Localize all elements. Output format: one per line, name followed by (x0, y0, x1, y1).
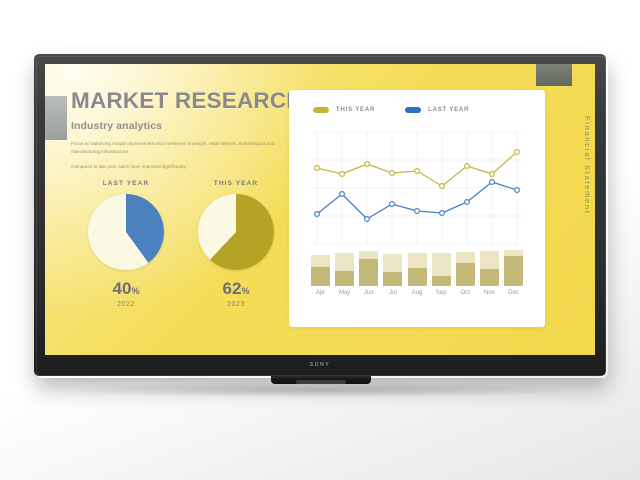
pie-percent-unit-last-year: % (131, 286, 139, 296)
bar-column[interactable] (335, 253, 354, 286)
pie-percent-value-last-year: 40 (113, 279, 132, 298)
bar-axis-label: Apr (311, 290, 330, 296)
decorative-tab-right (536, 64, 572, 86)
bar-segment-filled (504, 256, 523, 286)
sony-logo: SONY (0, 362, 640, 368)
bar-axis-label: Sep (432, 290, 451, 296)
line-chart (311, 132, 523, 244)
legend-label: LAST YEAR (428, 107, 469, 113)
bar-axis-label: Nov (480, 290, 499, 296)
chart-legend: THIS YEARLAST YEAR (313, 107, 469, 113)
pie-card-this-year: THIS YEAR 62% 2023 (183, 180, 289, 308)
screenshot-stage: SONY Financial Statement MARKET RESEARCH… (0, 0, 640, 480)
side-rail: Financial Statement (572, 64, 595, 355)
pie-year-last-year: 2022 (73, 301, 179, 308)
bar-chart-axis-labels: AprMayJunJulAugSepOctNovDec (311, 290, 523, 296)
page-subtitle: Industry analytics (71, 120, 309, 132)
bar-column[interactable] (456, 252, 475, 286)
legend-item-this-year[interactable]: THIS YEAR (313, 107, 375, 113)
bar-column[interactable] (359, 251, 378, 286)
bar-segment-filled (383, 272, 402, 286)
tv-screen[interactable]: Financial Statement MARKET RESEARCH Indu… (45, 64, 595, 355)
pie-year-this-year: 2023 (183, 301, 289, 308)
bar-axis-label: Oct (456, 290, 475, 296)
bar-segment-filled (432, 276, 451, 286)
pie-percent-last-year: 40% (73, 280, 179, 297)
body-paragraph-2: Compared to last year, sales have improv… (71, 163, 281, 171)
bar-segment-filled (456, 263, 475, 286)
legend-swatch-icon (313, 107, 329, 113)
legend-swatch-icon (405, 107, 421, 113)
chart-card: THIS YEARLAST YEAR AprMayJunJulAugSepOct… (289, 90, 545, 327)
bar-segment-filled (335, 271, 354, 286)
bar-segment-filled (311, 267, 330, 286)
pie-card-last-year: LAST YEAR 40% 2022 (73, 180, 179, 308)
presentation-slide: Financial Statement MARKET RESEARCH Indu… (45, 64, 595, 355)
bar-axis-label: May (335, 290, 354, 296)
legend-item-last-year[interactable]: LAST YEAR (405, 107, 469, 113)
bar-axis-label: Dec (504, 290, 523, 296)
pie-caption-this-year: THIS YEAR (183, 180, 289, 187)
bar-column[interactable] (383, 254, 402, 286)
page-title: MARKET RESEARCH (71, 90, 309, 113)
floor-shadow (60, 382, 580, 398)
tv-stand-foot (296, 380, 346, 384)
bar-axis-label: Jul (383, 290, 402, 296)
bar-column[interactable] (408, 253, 427, 286)
bar-column[interactable] (480, 251, 499, 286)
pie-caption-last-year: LAST YEAR (73, 180, 179, 187)
bar-segment-filled (480, 269, 499, 286)
bar-axis-label: Jun (359, 290, 378, 296)
bar-axis-label: Aug (408, 290, 427, 296)
bar-column[interactable] (432, 253, 451, 286)
pie-chart-this-year (198, 194, 274, 270)
legend-label: THIS YEAR (336, 107, 375, 113)
pie-percent-value-this-year: 62 (223, 279, 242, 298)
bar-chart (311, 248, 523, 286)
pie-percent-this-year: 62% (183, 280, 289, 297)
pie-chart-last-year (88, 194, 164, 270)
decorative-tab-left (45, 96, 67, 140)
slide-text-column: MARKET RESEARCH Industry analytics Focus… (71, 90, 309, 178)
bar-segment-filled (408, 268, 427, 286)
body-paragraph-1: Focus on balancing margin improvement an… (71, 140, 281, 156)
side-label-financial-statement: Financial Statement (583, 116, 592, 215)
bar-column[interactable] (311, 255, 330, 286)
bar-segment-filled (359, 259, 378, 286)
pie-percent-unit-this-year: % (241, 286, 249, 296)
bar-column[interactable] (504, 250, 523, 286)
